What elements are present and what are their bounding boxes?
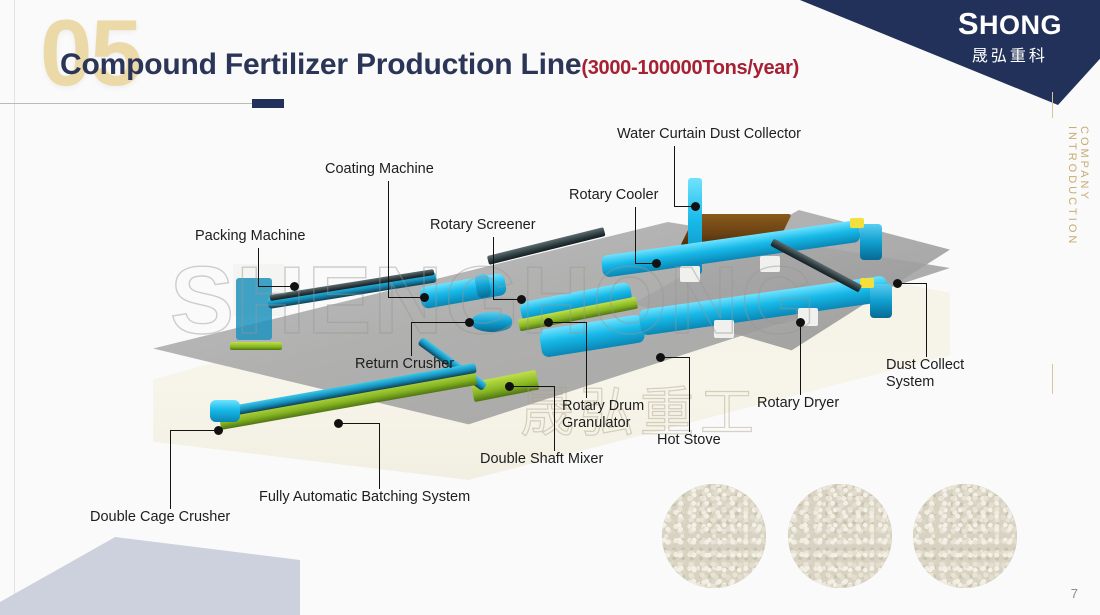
granule-texture-2 [788,484,892,588]
logo-chinese-name: 晟弘重科 [958,42,1062,66]
leader-rotary-drum-granulator-h [552,322,586,323]
logo-rest: HONG [979,10,1062,40]
anchor-rotary-screener [517,295,526,304]
callout-double-cage-crusher: Double Cage Crusher [90,509,230,526]
leader-hot-stove-h [663,357,689,358]
bottom-decor-wedge [0,537,300,615]
callout-rotary-screener: Rotary Screener [430,217,536,234]
product-sample-3[interactable] [913,484,1017,588]
leader-double-shaft-mixer-h [512,386,554,387]
machine-rotary-dryer-support-1 [714,320,734,338]
anchor-rotary-drum-granulator [544,318,553,327]
title-accent-dash [252,99,284,108]
callout-rotary-cooler: Rotary Cooler [569,187,658,204]
anchor-dust-collect-system [893,279,902,288]
anchor-coating-machine [420,293,429,302]
callout-water-curtain-dust-collector: Water Curtain Dust Collector [617,126,801,143]
anchor-packing-machine [290,282,299,291]
callout-fully-automatic-batching-system: Fully Automatic Batching System [259,489,470,506]
granule-texture-3 [913,484,1017,588]
leader-packing-machine-v [258,248,259,286]
anchor-rotary-dryer [796,318,805,327]
leader-double-cage-crusher-v [170,430,171,509]
leader-rotary-screener-v [493,237,494,299]
callout-hot-stove: Hot Stove [657,432,721,449]
logo-initial: S [958,6,979,41]
machine-dust-collect-fin-a [850,218,864,228]
leader-coating-machine-h [388,297,424,298]
leader-double-cage-crusher-h [170,430,218,431]
leader-coating-machine-v [388,181,389,297]
callout-rotary-drum-granulator: Rotary Drum Granulator [562,398,644,432]
machine-rotary-cooler-support-2 [760,256,780,272]
machine-return-crusher [472,312,512,332]
leader-hot-stove-v [689,357,690,432]
page-title: Compound Fertilizer Production Line(3000… [60,48,799,82]
callout-dust-collect-system: Dust Collect System [886,357,964,391]
machine-packing-base [230,342,282,350]
page-title-main: Compound Fertilizer Production Line [60,48,581,81]
side-rail-label: COMPANY INTRODUCTION [1014,126,1090,246]
leader-rotary-drum-granulator-v [586,322,587,398]
callout-rotary-dryer: Rotary Dryer [757,395,839,412]
leader-dust-collect-system-v [926,283,927,357]
product-sample-2[interactable] [788,484,892,588]
page-number: 7 [1071,586,1078,601]
leader-rotary-dryer-v [800,322,801,395]
leader-rotary-cooler-v [635,207,636,263]
leader-packing-machine-h [258,286,294,287]
product-sample-1[interactable] [662,484,766,588]
machine-rotary-cooler-support-1 [680,266,700,282]
leader-water-curtain-v [674,146,675,206]
machine-dust-collect-system-b [870,284,892,318]
callout-double-shaft-mixer: Double Shaft Mixer [480,451,603,468]
machine-packing-frame [236,278,272,340]
leader-batching-system-h [341,423,379,424]
leader-double-shaft-mixer-v [554,386,555,451]
anchor-hot-stove [656,353,665,362]
callout-coating-machine: Coating Machine [325,161,434,178]
granule-texture-1 [662,484,766,588]
anchor-return-crusher [465,318,474,327]
anchor-double-cage-crusher [214,426,223,435]
anchor-water-curtain-dust-collector [691,202,700,211]
page-title-capacity: (3000-100000Tons/year) [581,57,799,79]
side-rail-line-bottom [1052,364,1053,394]
anchor-fully-automatic-batching-system [334,419,343,428]
title-underline-rule [0,103,262,104]
anchor-rotary-cooler [652,259,661,268]
callout-packing-machine: Packing Machine [195,228,305,245]
machine-double-cage-crusher [210,400,240,422]
leader-batching-system-v [379,423,380,489]
machine-dust-collect-fin-b [860,278,874,288]
leader-dust-collect-system-h [900,283,926,284]
slide-root: SHONG 晟弘重科 05 Compound Fertilizer Produc… [0,0,1100,615]
logo-wordmark: SHONG [958,8,1062,41]
leader-return-crusher-v [411,322,412,356]
machine-dust-collect-system-a [860,224,882,260]
brand-logo[interactable]: SHONG 晟弘重科 [958,8,1062,66]
left-edge-rule [14,0,15,615]
leader-return-crusher-h [411,322,469,323]
anchor-double-shaft-mixer [505,382,514,391]
side-rail-line-top [1052,92,1053,118]
callout-return-crusher: Return Crusher [355,356,454,373]
